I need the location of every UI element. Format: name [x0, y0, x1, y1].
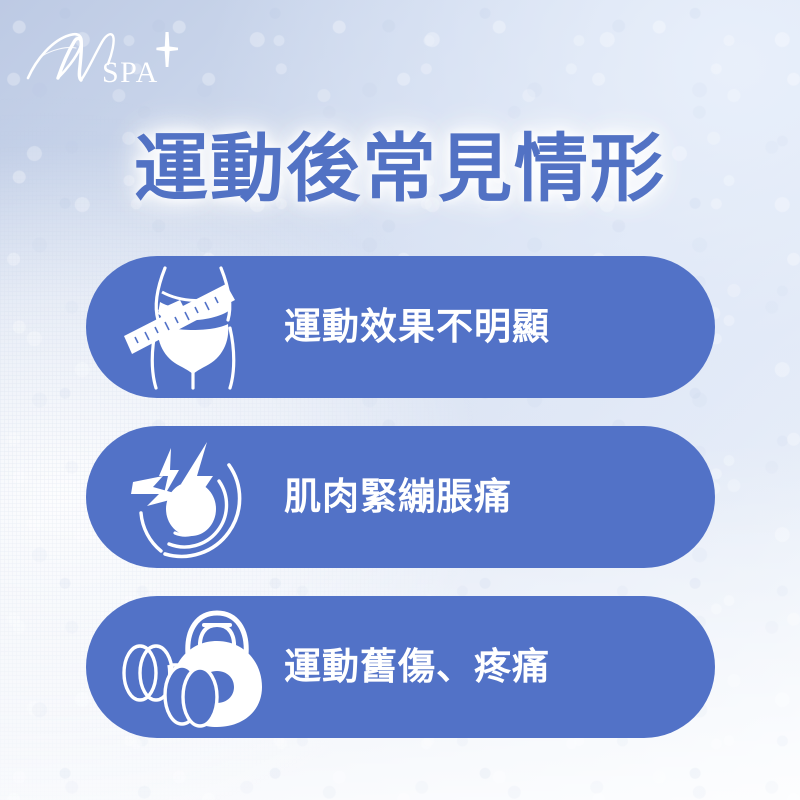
list-item-label: 肌肉緊繃脹痛 — [284, 475, 512, 519]
waist-measuring-tape-icon — [108, 256, 278, 398]
poster-canvas: SPA 運動後常見情形 — [0, 0, 800, 800]
list-item[interactable]: 運動舊傷、疼痛 — [86, 596, 715, 738]
logo-monogram-n — [28, 34, 114, 80]
page-title: 運動後常見情形 — [0, 128, 800, 210]
logo-wordmark: SPA — [102, 56, 159, 89]
list-item[interactable]: 運動效果不明顯 — [86, 256, 715, 398]
muscle-pain-lightning-icon — [108, 426, 278, 568]
dumbbell-kettlebell-icon — [108, 596, 278, 738]
nspa-logo[interactable]: SPA — [18, 26, 188, 96]
logo-plus-icon — [156, 32, 178, 67]
list-item[interactable]: 肌肉緊繃脹痛 — [86, 426, 715, 568]
list-item-label: 運動效果不明顯 — [284, 305, 550, 349]
list-item-label: 運動舊傷、疼痛 — [284, 645, 550, 689]
